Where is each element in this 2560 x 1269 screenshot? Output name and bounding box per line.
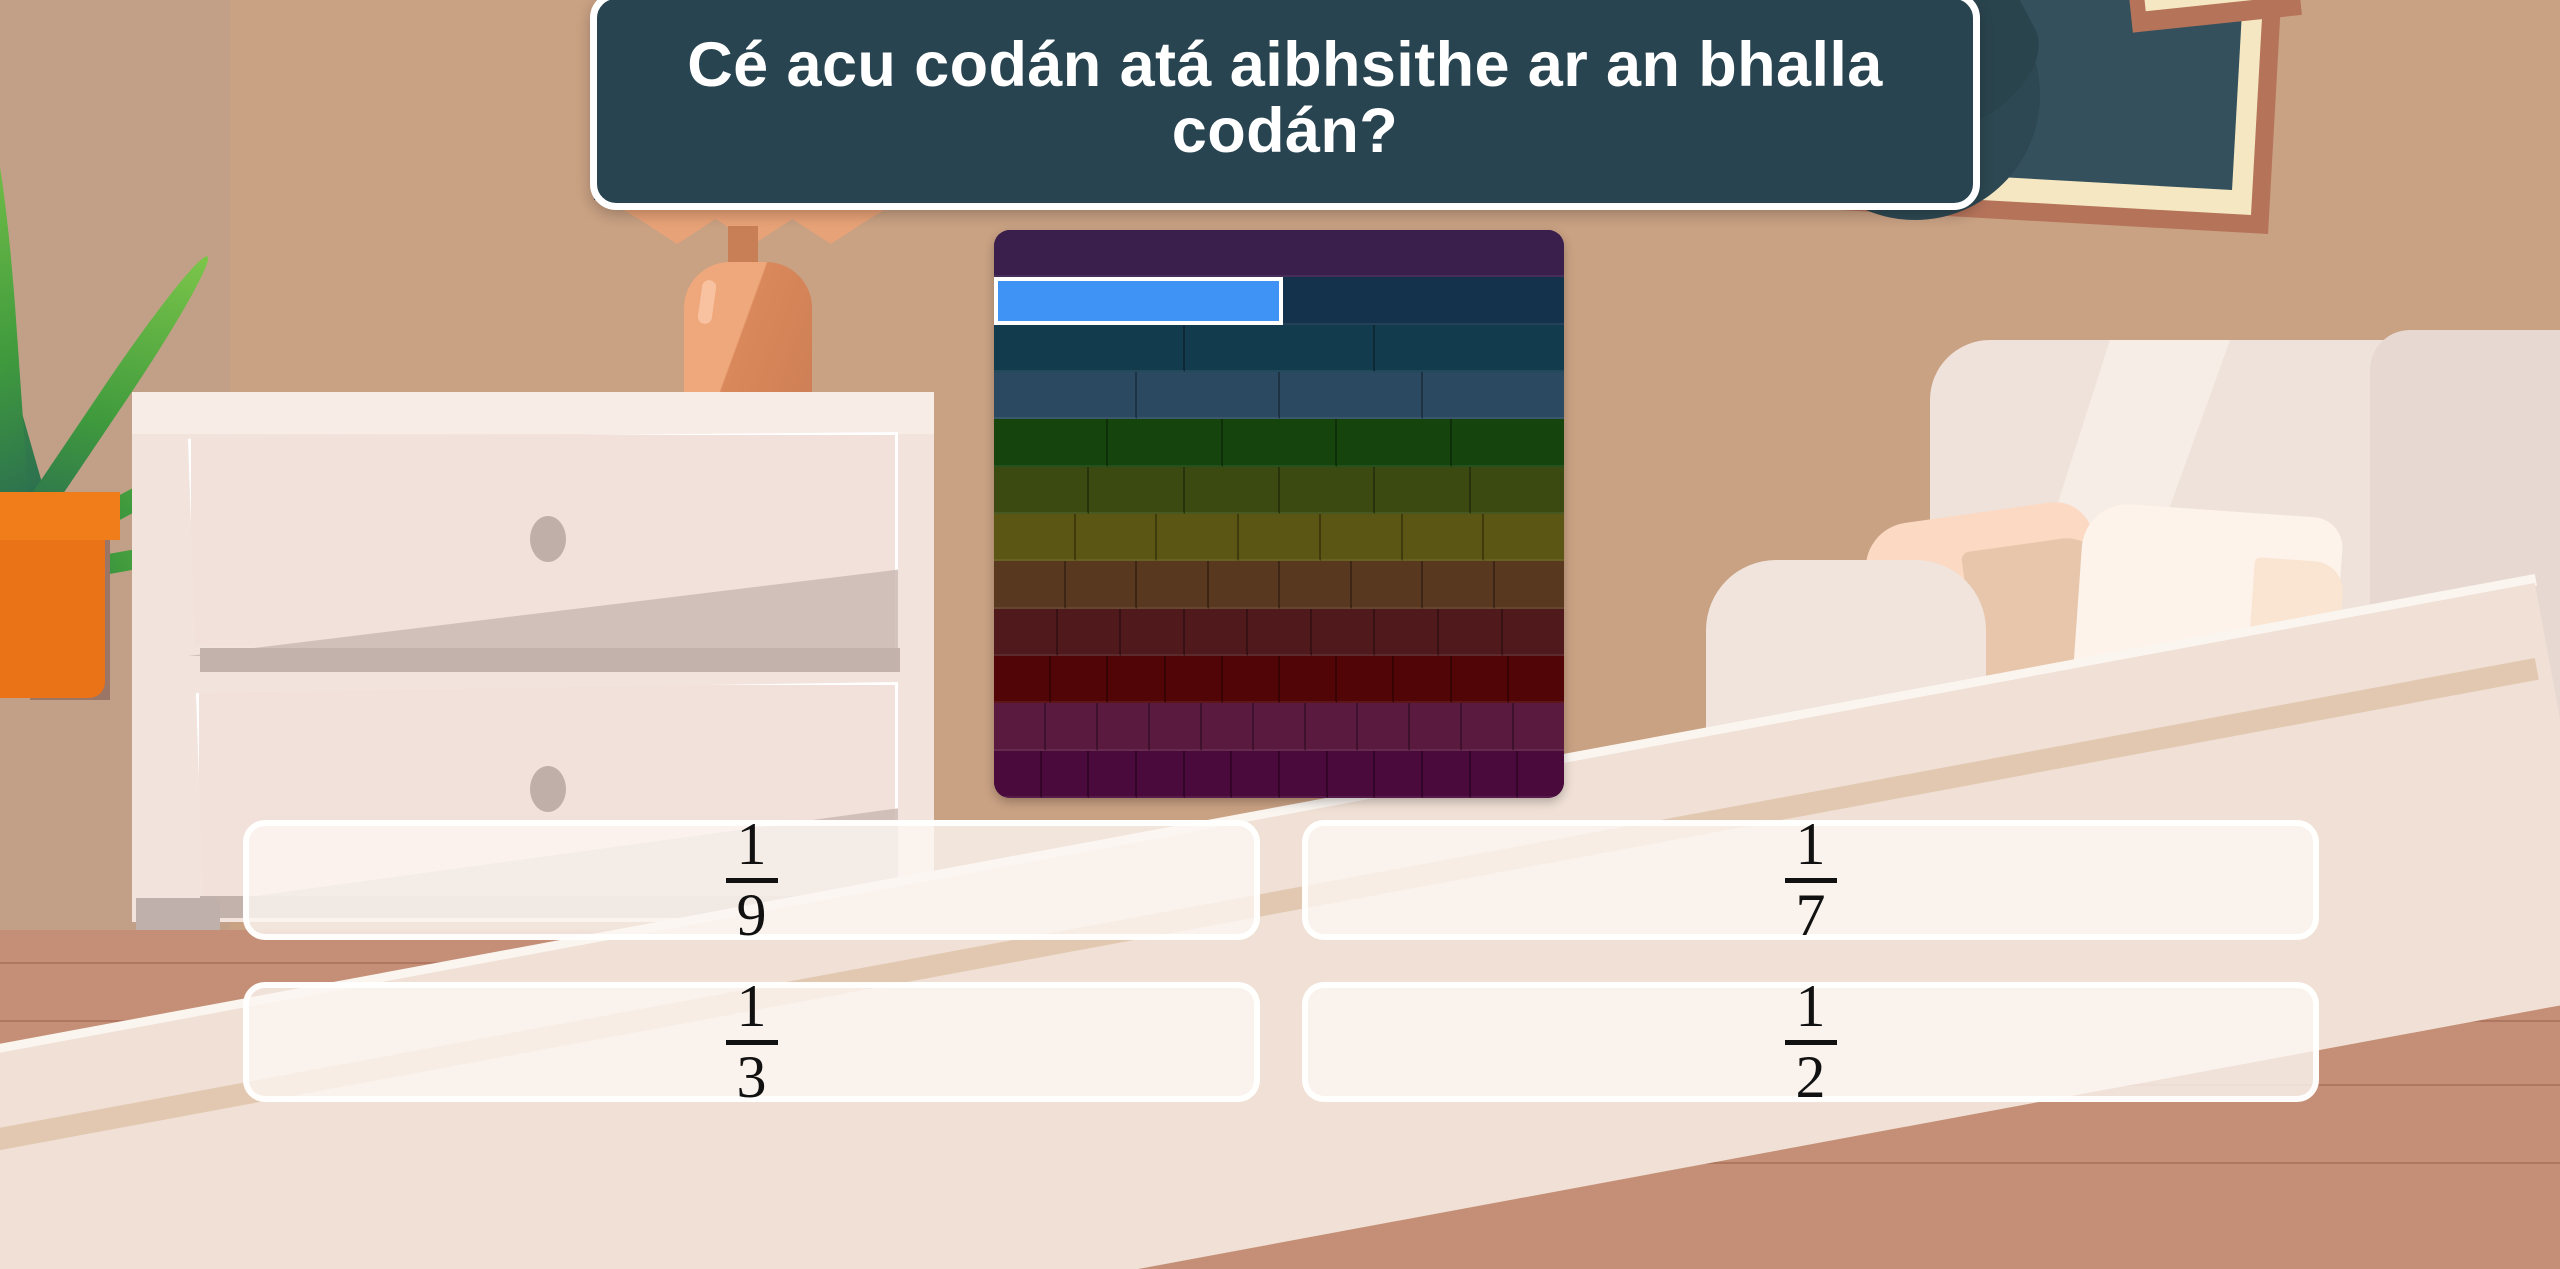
fraction-wall-row-3 [994, 325, 1564, 372]
fraction-wall-cell [1423, 372, 1564, 419]
fraction-wall-cell [1471, 467, 1564, 514]
fraction-wall-cell [1209, 561, 1281, 608]
fraction-wall-cell [1509, 656, 1564, 703]
fraction-wall-cell [994, 467, 1089, 514]
fraction-wall-cell [1076, 514, 1158, 561]
fraction-wall-cell [1452, 419, 1564, 466]
fraction-wall-cell [1495, 561, 1565, 608]
fraction-wall-cell [1280, 656, 1337, 703]
fraction-wall-row-10 [994, 656, 1564, 703]
fraction-wall-cell [1046, 703, 1098, 750]
fraction-wall-cell [1503, 609, 1565, 656]
fraction-wall-cell [1280, 751, 1328, 798]
fraction-wall-cell [1306, 703, 1358, 750]
fraction-denominator: 3 [729, 1050, 775, 1105]
fraction-wall-cell [1375, 467, 1470, 514]
plant-pot-rim [0, 492, 120, 540]
fraction-wall-cell [1058, 609, 1122, 656]
answer-option-2[interactable]: 1 7 [1302, 820, 2319, 940]
fraction-wall-cell [1514, 703, 1564, 750]
fraction-wall-cell [1185, 325, 1376, 372]
fraction-wall-cell [1321, 514, 1403, 561]
fraction-wall-cell [1202, 703, 1254, 750]
fraction-wall-cell [1248, 609, 1312, 656]
fraction-wall-cell [1185, 467, 1280, 514]
fraction-wall-cell [1223, 656, 1280, 703]
fraction-wall-cell [1484, 514, 1564, 561]
fraction-wall-cell [1328, 751, 1376, 798]
fraction-wall-cell [1098, 703, 1150, 750]
answer-option-1[interactable]: 1 9 [243, 820, 1260, 940]
fraction-wall-cell [1089, 467, 1184, 514]
fraction-wall-cell [1375, 751, 1423, 798]
answer-option-3[interactable]: 1 3 [243, 982, 1260, 1102]
fraction-wall-cell [1462, 703, 1514, 750]
fraction-wall-cell [1280, 372, 1423, 419]
fraction-wall-cell [1223, 419, 1337, 466]
fraction-wall-cell [1137, 372, 1280, 419]
fraction-wall-cell [1254, 703, 1306, 750]
fraction-wall-highlighted-cell [994, 277, 1283, 324]
fraction-wall-cell [1358, 703, 1410, 750]
game-screen: Cé acu codán atá aibhsithe ar an bhalla … [0, 0, 2560, 1269]
fraction-wall-row-6 [994, 467, 1564, 514]
fraction-wall-row-8 [994, 561, 1564, 608]
fraction-wall-cell [1337, 419, 1451, 466]
fraction-wall-cell [1283, 277, 1564, 324]
fraction-wall-cell [1137, 561, 1209, 608]
fraction-wall-cell [994, 372, 1137, 419]
fraction-wall-cell [1150, 703, 1202, 750]
fraction-wall-cell [994, 514, 1076, 561]
fraction-wall-cell [1352, 561, 1424, 608]
fraction-1-9: 1 9 [726, 817, 778, 942]
fraction-1-2: 1 2 [1785, 979, 1837, 1104]
fraction-wall-cell [1375, 609, 1439, 656]
fraction-wall [994, 230, 1564, 798]
fraction-wall-row-5 [994, 419, 1564, 466]
fraction-wall-cell [994, 656, 1051, 703]
fraction-wall-cell [1471, 751, 1519, 798]
fraction-wall-row-1 [994, 230, 1564, 277]
fraction-numerator: 1 [729, 817, 775, 872]
fraction-numerator: 1 [1788, 979, 1834, 1034]
fraction-denominator: 9 [729, 888, 775, 943]
fraction-wall-cell [1403, 514, 1485, 561]
fraction-wall-cell [1108, 656, 1165, 703]
fraction-wall-cell [1108, 419, 1222, 466]
fraction-denominator: 7 [1788, 888, 1834, 943]
answer-option-4[interactable]: 1 2 [1302, 982, 2319, 1102]
fraction-wall-row-9 [994, 609, 1564, 656]
fraction-wall-cell [1166, 656, 1223, 703]
fraction-denominator: 2 [1788, 1050, 1834, 1105]
fraction-wall-row-12 [994, 751, 1564, 798]
fraction-wall-cell [1280, 561, 1352, 608]
fraction-wall-cell [1239, 514, 1321, 561]
fraction-wall-cell [1337, 656, 1394, 703]
dresser-drawer-top-ledge [200, 648, 900, 672]
fraction-wall-cell [1051, 656, 1108, 703]
fraction-wall-cell [994, 609, 1058, 656]
fraction-wall-cell [1439, 609, 1503, 656]
fraction-wall-cell [1066, 561, 1138, 608]
fraction-wall-cell [1312, 609, 1376, 656]
fraction-wall-cell [1518, 751, 1564, 798]
fraction-wall-cell [994, 325, 1185, 372]
dresser-knob-bottom [530, 766, 566, 812]
fraction-wall-cell [1410, 703, 1462, 750]
fraction-wall-cell [1394, 656, 1451, 703]
fraction-wall-row-11 [994, 703, 1564, 750]
fraction-numerator: 1 [1788, 817, 1834, 872]
fraction-wall-cell [1375, 325, 1564, 372]
fraction-wall-row-4 [994, 372, 1564, 419]
fraction-wall-cell [1185, 751, 1233, 798]
fraction-wall-cell [1042, 751, 1090, 798]
dresser-knob-top [530, 516, 566, 562]
answer-options: 1 9 1 7 1 3 1 2 [243, 820, 2319, 1102]
fraction-wall-cell [1089, 751, 1137, 798]
fraction-wall-row-7 [994, 514, 1564, 561]
question-banner: Cé acu codán atá aibhsithe ar an bhalla … [590, 0, 1980, 210]
fraction-wall-cell [994, 561, 1066, 608]
fraction-wall-cell [994, 751, 1042, 798]
fraction-wall-cell [1137, 751, 1185, 798]
fraction-wall-cell [994, 703, 1046, 750]
fraction-1-7: 1 7 [1785, 817, 1837, 942]
fraction-wall-cell [994, 419, 1108, 466]
fraction-wall-cell [1452, 656, 1509, 703]
fraction-wall-row-2 [994, 277, 1564, 324]
question-text: Cé acu codán atá aibhsithe ar an bhalla … [637, 32, 1933, 164]
fraction-wall-cell [1232, 751, 1280, 798]
fraction-1-3: 1 3 [726, 979, 778, 1104]
dresser-top [132, 392, 934, 434]
fraction-wall-cell [1280, 467, 1375, 514]
fraction-wall-cell [1185, 609, 1249, 656]
fraction-wall-cell [994, 230, 1564, 277]
fraction-wall-cell [1121, 609, 1185, 656]
fraction-numerator: 1 [729, 979, 775, 1034]
fraction-wall-cell [1423, 751, 1471, 798]
fraction-wall-cell [1423, 561, 1495, 608]
fraction-wall-cell [1157, 514, 1239, 561]
dresser-foot [136, 898, 220, 932]
